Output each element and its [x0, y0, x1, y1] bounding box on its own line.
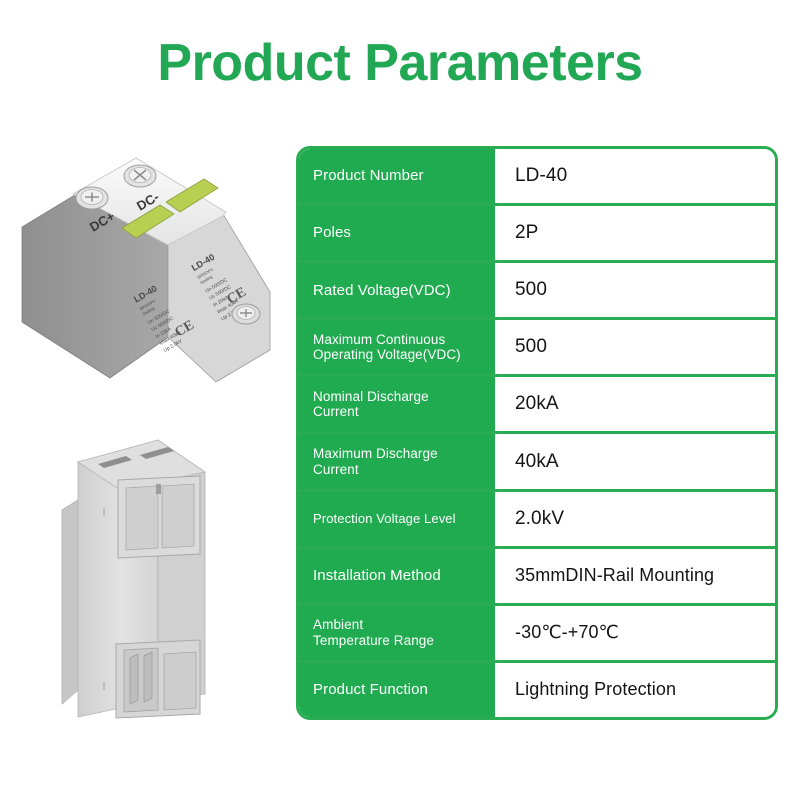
spec-value: 500: [495, 320, 775, 374]
table-row: AmbientTemperature Range -30℃-+70℃: [299, 606, 775, 663]
spec-value: 500: [495, 263, 775, 317]
spec-value: -30℃-+70℃: [495, 606, 775, 660]
spec-label: Nominal DischargeCurrent: [299, 377, 495, 431]
spec-label: Maximum ContinuousOperating Voltage(VDC): [299, 320, 495, 374]
spec-value: 2.0kV: [495, 492, 775, 546]
spec-value: LD-40: [495, 149, 775, 203]
spec-label: Poles: [299, 206, 495, 260]
page-title: Product Parameters: [0, 36, 800, 91]
table-row: Protection Voltage Level 2.0kV: [299, 492, 775, 549]
spec-label: Installation Method: [299, 549, 495, 603]
spec-value: 35mmDIN-Rail Mounting: [495, 549, 775, 603]
spec-label: Rated Voltage(VDC): [299, 263, 495, 317]
spec-label: Maximum DischargeCurrent: [299, 434, 495, 488]
table-row: Product Function Lightning Protection: [299, 663, 775, 717]
specification-table: Product Number LD-40 Poles 2P Rated Volt…: [296, 146, 778, 720]
product-parameters-page: Product Parameters: [0, 0, 800, 800]
table-row: Maximum DischargeCurrent 40kA: [299, 434, 775, 491]
spec-label: Protection Voltage Level: [299, 492, 495, 546]
spec-value: 2P: [495, 206, 775, 260]
spec-label: Product Number: [299, 149, 495, 203]
table-row: Rated Voltage(VDC) 500: [299, 263, 775, 320]
table-row: Maximum ContinuousOperating Voltage(VDC)…: [299, 320, 775, 377]
product-photo-rear-housing: [40, 432, 280, 732]
spec-label: Product Function: [299, 663, 495, 717]
spec-value: Lightning Protection: [495, 663, 775, 717]
product-photo-angled-spd: DC+ DC- LD-40 SPD/OPV Sealing Un 500/DC …: [18, 132, 288, 382]
spec-value: 40kA: [495, 434, 775, 488]
spec-value: 20kA: [495, 377, 775, 431]
spec-label: AmbientTemperature Range: [299, 606, 495, 660]
table-row: Nominal DischargeCurrent 20kA: [299, 377, 775, 434]
table-row: Product Number LD-40: [299, 149, 775, 206]
table-row: Installation Method 35mmDIN-Rail Mountin…: [299, 549, 775, 606]
table-row: Poles 2P: [299, 206, 775, 263]
